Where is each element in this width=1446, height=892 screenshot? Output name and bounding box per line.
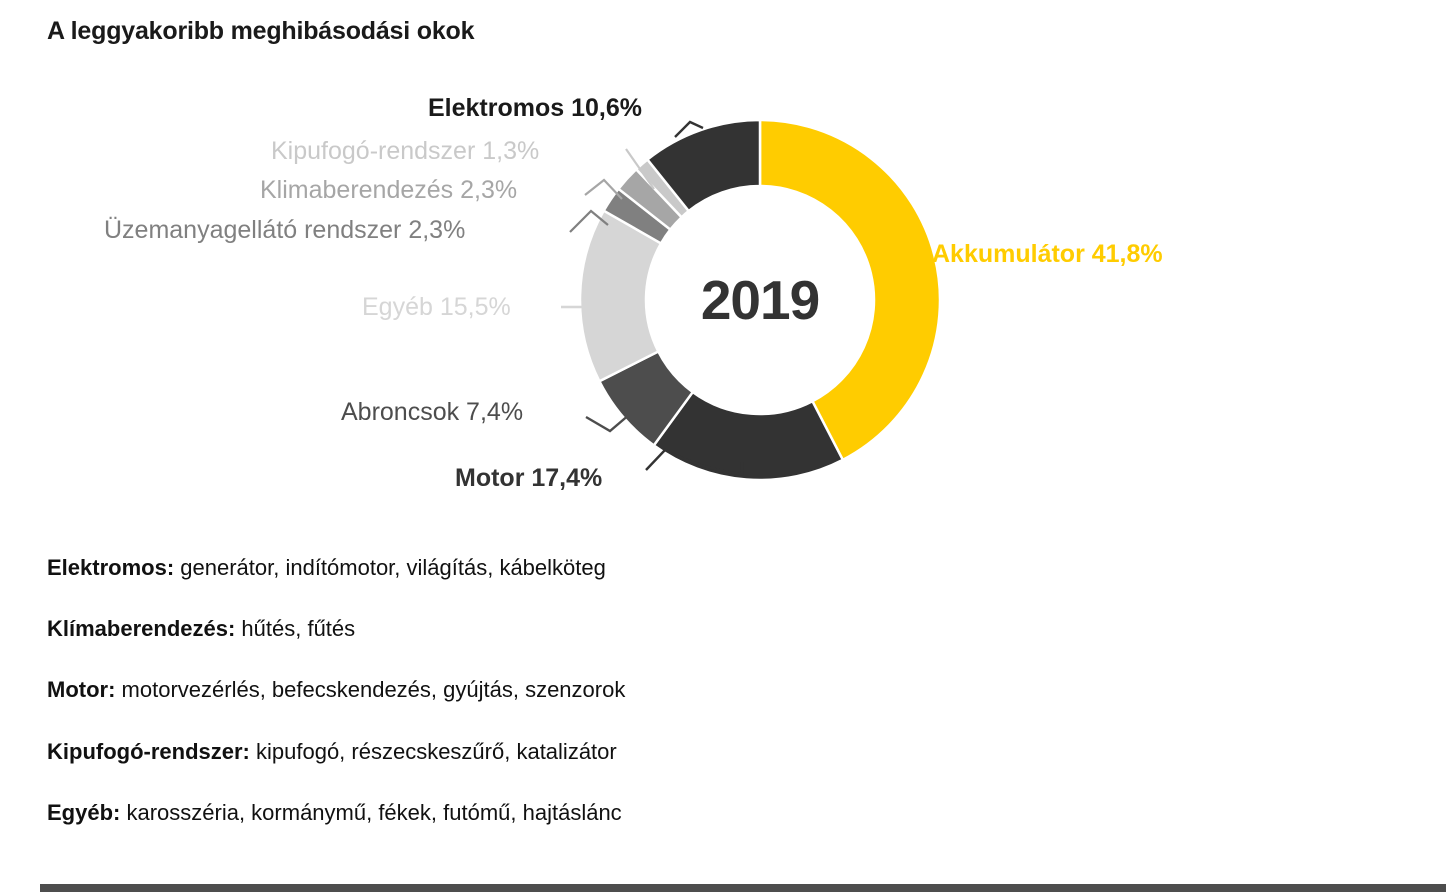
legend-detail: motorvezérlés, befecskendezés, gyújtás, … (115, 677, 625, 702)
legend-term: Klímaberendezés: (47, 616, 235, 641)
callout-egyeb: Egyéb 15,5% (362, 295, 511, 320)
legend-detail: kipufogó, részecskeszűrő, katalizátor (250, 739, 617, 764)
legend-detail: hűtés, fűtés (235, 616, 355, 641)
legend-detail: karosszéria, kormánymű, fékek, futómű, h… (120, 800, 621, 825)
callout-akkumulator: Akkumulátor 41,8% (932, 242, 1163, 267)
callout-motor: Motor 17,4% (455, 466, 602, 491)
legend-item: Motor: motorvezérlés, befecskendezés, gy… (47, 678, 1047, 702)
legend-term: Motor: (47, 677, 115, 702)
legend-item: Klímaberendezés: hűtés, fűtés (47, 617, 1047, 641)
legend-item: Kipufogó-rendszer: kipufogó, részecskesz… (47, 740, 1047, 764)
callout-kipufogo-rendszer: Kipufogó-rendszer 1,3% (271, 139, 539, 164)
callout-uzemanyagellato-rendszer: Üzemanyagellátó rendszer 2,3% (104, 218, 465, 243)
donut-chart: 2019 (578, 118, 942, 482)
legend-term: Egyéb: (47, 800, 120, 825)
donut-slice (760, 120, 940, 460)
legend-detail: generátor, indítómotor, világítás, kábel… (174, 555, 606, 580)
legend-item: Egyéb: karosszéria, kormánymű, fékek, fu… (47, 801, 1047, 825)
callout-klimaberendezes: Klimaberendezés 2,3% (260, 178, 517, 203)
donut-svg (578, 118, 942, 482)
bottom-divider (40, 884, 1446, 892)
legend-item: Elektromos: generátor, indítómotor, vilá… (47, 556, 1047, 580)
page-title: A leggyakoribb meghibásodási okok (47, 17, 474, 46)
legend-term: Elektromos: (47, 555, 174, 580)
callout-elektromos: Elektromos 10,6% (428, 96, 642, 121)
legend-list: Elektromos: generátor, indítómotor, vilá… (47, 556, 1047, 825)
callout-abroncsok: Abroncsok 7,4% (341, 400, 523, 425)
legend-term: Kipufogó-rendszer: (47, 739, 250, 764)
